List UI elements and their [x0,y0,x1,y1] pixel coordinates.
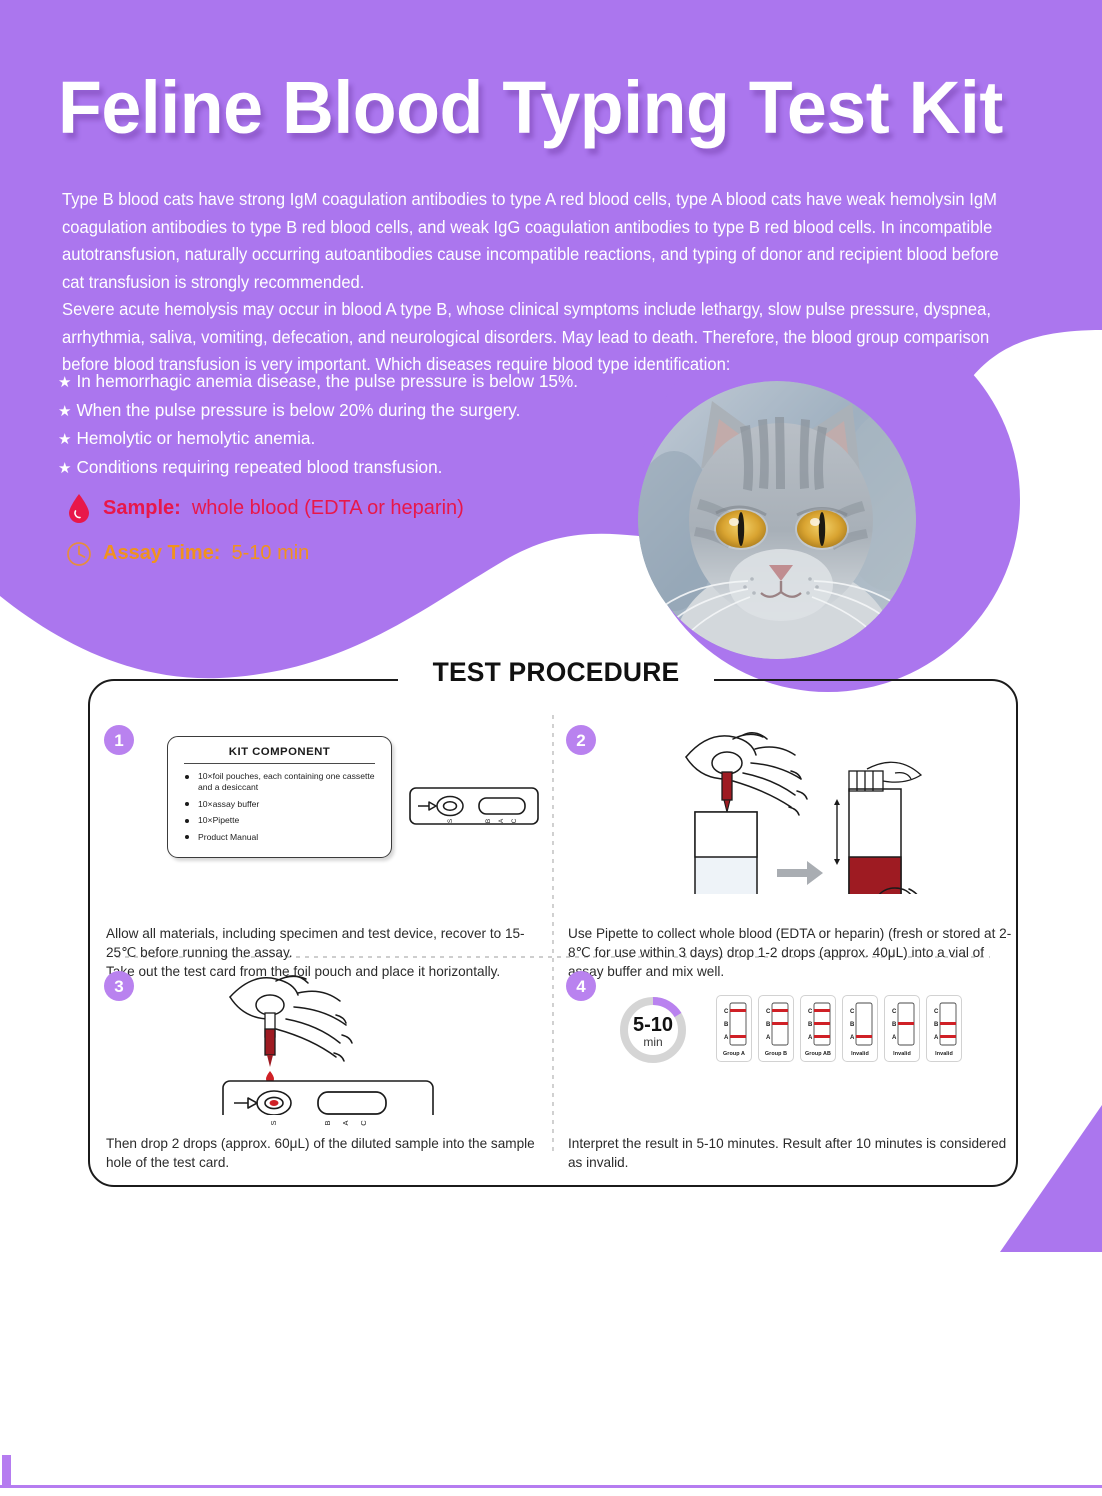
svg-text:C: C [724,1009,729,1015]
step-number-badge: 1 [104,725,134,755]
result-card: C B A Group A [716,995,752,1062]
star-icon: ★ [58,431,71,448]
intro-paragraph-1: Type B blood cats have strong IgM coagul… [62,186,1019,296]
sample-value: whole blood (EDTA or heparin) [192,497,464,520]
list-item: ★Hemolytic or hemolytic anemia. [58,425,698,454]
svg-text:A: A [498,818,505,823]
svg-text:C: C [359,1120,368,1126]
list-item: ★Conditions requiring repeated blood tra… [58,454,698,483]
sample-info-row: Sample: whole blood (EDTA or heparin) [66,493,464,523]
list-item-label: In hemorrhagic anemia disease, the pulse… [76,371,578,391]
sample-label: Sample: [103,497,181,520]
list-item: ★When the pulse pressure is below 20% du… [58,397,698,426]
result-card-label: Group AB [805,1051,831,1057]
svg-text:S: S [447,818,454,823]
assay-time-label: Assay Time: [103,542,220,565]
kit-component-list: 10×foil pouches, each containing one cas… [180,771,379,843]
timer-ring-icon: 5-10 min [616,993,690,1067]
svg-text:C: C [511,818,518,823]
list-item-label: Hemolytic or hemolytic anemia. [76,428,315,448]
step-number-badge: 2 [566,725,596,755]
result-card-label: Invalid [935,1051,953,1057]
test-cassette-icon: S B A C [409,783,539,829]
clock-icon [66,538,92,568]
cat-photo [638,381,916,659]
bottom-rule [0,1485,1102,1488]
result-card: C B A Invalid [842,995,878,1062]
result-card-label: Group B [765,1051,787,1057]
list-item: 10×Pipette [180,815,379,826]
result-strip: C B A [718,1001,750,1047]
step-caption: Interpret the result in 5-10 minutes. Re… [568,1134,1016,1172]
indication-list: ★In hemorrhagic anemia disease, the puls… [58,368,698,482]
result-card: C B A Group B [758,995,794,1062]
list-item: ★In hemorrhagic anemia disease, the puls… [58,368,698,397]
svg-text:B: B [766,1022,771,1028]
assay-time-value: 5-10 min [231,542,309,565]
step-caption: Use Pipette to collect whole blood (EDTA… [568,924,1016,981]
blood-drop-icon [66,493,92,523]
svg-text:A: A [766,1035,771,1041]
svg-text:C: C [808,1009,813,1015]
svg-text:B: B [850,1022,855,1028]
step-number-badge: 3 [104,971,134,1001]
star-icon: ★ [58,374,71,391]
svg-text:B: B [724,1022,729,1028]
svg-text:A: A [341,1120,350,1125]
svg-text:B: B [934,1022,939,1028]
list-item: Product Manual [180,832,379,843]
result-card-label: Group A [723,1051,745,1057]
svg-text:B: B [808,1022,813,1028]
page-title: Feline Blood Typing Test Kit [58,68,1028,148]
bottom-left-accent-tab [2,1455,11,1485]
result-card: C B A Group AB [800,995,836,1062]
result-strip: C B A [760,1001,792,1047]
timer-unit: min [643,1035,662,1049]
cassette-labels: S B A C [222,1115,522,1133]
test-procedure-panel: TEST PROCEDURE 1 KIT COMPONENT 10×foil p… [88,679,1018,1187]
svg-text:C: C [766,1009,771,1015]
svg-text:B: B [485,819,492,823]
svg-text:C: C [934,1009,939,1015]
assay-time-row: Assay Time: 5-10 min [66,538,309,568]
result-card-label: Invalid [893,1051,911,1057]
svg-text:A: A [934,1035,939,1041]
star-icon: ★ [58,460,71,477]
kit-component-card: KIT COMPONENT 10×foil pouches, each cont… [167,736,392,858]
svg-text:A: A [892,1035,897,1041]
result-interpretation-cards: C B A Group A C B A [716,995,962,1062]
list-item: 10×assay buffer [180,799,379,810]
kit-component-title: KIT COMPONENT [184,746,375,764]
poster-page: Feline Blood Typing Test Kit Type B bloo… [0,0,1102,1496]
svg-text:A: A [724,1035,729,1041]
drop-sample-onto-card-illustration [222,975,522,1115]
result-card-label: Invalid [851,1051,869,1057]
intro-text: Type B blood cats have strong IgM coagul… [62,186,1019,379]
hero-section: Feline Blood Typing Test Kit Type B bloo… [0,0,1102,640]
list-item-label: Conditions requiring repeated blood tran… [76,457,442,477]
list-item-label: When the pulse pressure is below 20% dur… [76,400,520,420]
list-item: 10×foil pouches, each containing one cas… [180,771,379,793]
result-card: C B A Invalid [926,995,962,1062]
svg-text:S: S [269,1120,278,1125]
step-caption: Then drop 2 drops (approx. 60μL) of the … [106,1134,554,1172]
timer-value: 5-10 [633,1014,673,1036]
step-number-badge: 4 [566,971,596,1001]
result-strip: C B A [886,1001,918,1047]
intro-paragraph-2: Severe acute hemolysis may occur in bloo… [62,296,1019,379]
procedure-title: TEST PROCEDURE [399,657,713,688]
svg-text:C: C [850,1009,855,1015]
cat-illustration [638,381,916,659]
result-card: C B A Invalid [884,995,920,1062]
star-icon: ★ [58,403,71,420]
result-strip: C B A [928,1001,960,1047]
svg-text:A: A [850,1035,855,1041]
svg-text:B: B [323,1120,332,1125]
pipette-into-vial-illustration [681,729,971,894]
result-strip: C B A [844,1001,876,1047]
svg-text:B: B [892,1022,897,1028]
svg-text:C: C [892,1009,897,1015]
step-caption: Allow all materials, including specimen … [106,924,554,981]
svg-text:A: A [808,1035,813,1041]
result-strip: C B A [802,1001,834,1047]
